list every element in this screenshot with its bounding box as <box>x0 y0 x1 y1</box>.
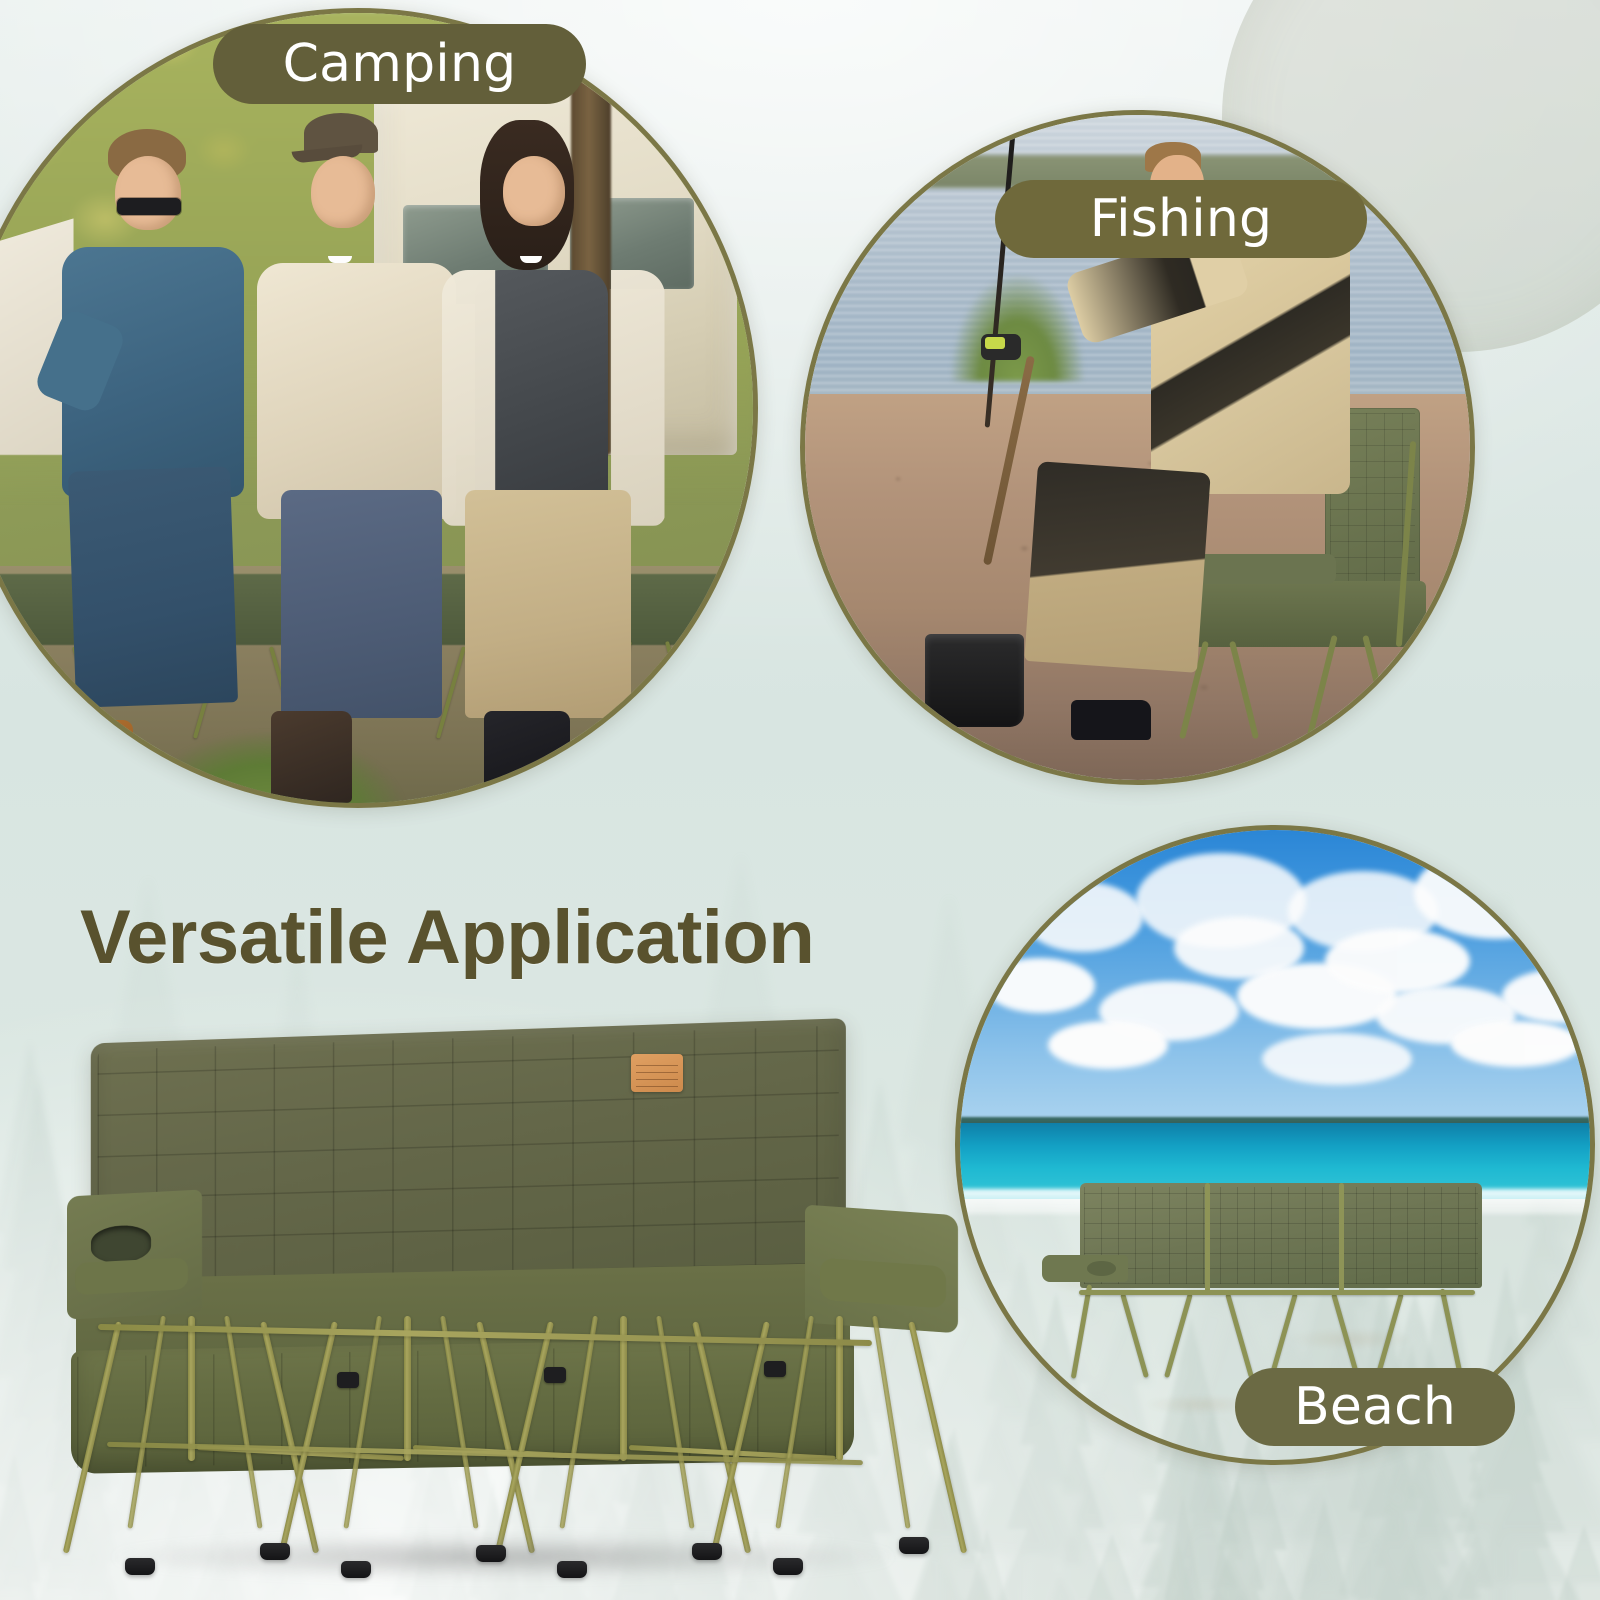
cloud <box>1174 917 1304 979</box>
cloud <box>1023 882 1143 952</box>
armrest-pad <box>75 1257 188 1295</box>
cup-holder <box>91 1224 150 1264</box>
leg-pair <box>465 490 631 718</box>
beach-photo <box>960 830 1590 1460</box>
armrest-pad <box>820 1257 945 1308</box>
product-armrest-right <box>805 1204 958 1332</box>
product-foot <box>773 1558 803 1575</box>
hero-product-image <box>62 1025 962 1585</box>
face <box>503 156 565 226</box>
product-foot <box>692 1543 722 1560</box>
cloud <box>1325 929 1470 993</box>
page-title: Versatile Application <box>80 894 814 981</box>
brand-logo-patch <box>631 1054 683 1092</box>
sunglasses-icon <box>117 198 181 215</box>
boot-left <box>57 720 133 803</box>
label-pill-fishing[interactable]: Fishing <box>995 180 1367 258</box>
boot-left <box>271 711 352 803</box>
bench-armrest <box>1042 1255 1128 1281</box>
face <box>311 156 375 228</box>
product-foot <box>476 1545 506 1562</box>
person-camper-3 <box>437 92 674 803</box>
poster-canvas: Camping Fishing Beach Versatile Applicat… <box>0 0 1600 1600</box>
product-armrest-left <box>67 1189 202 1319</box>
baseball-cap <box>304 113 378 153</box>
product-foot <box>341 1561 371 1578</box>
cloud <box>985 958 1095 1013</box>
legs <box>1024 462 1210 673</box>
leg-pair <box>68 467 238 709</box>
label-pill-camping[interactable]: Camping <box>213 24 586 104</box>
bench-backrest <box>1080 1183 1482 1288</box>
cloud <box>1451 1021 1581 1067</box>
fishing-reel <box>981 334 1021 360</box>
cream-jacket <box>257 263 456 519</box>
cloud <box>1048 1021 1168 1069</box>
bucket <box>925 634 1025 727</box>
beach-bench <box>1042 1183 1521 1385</box>
product-foot <box>899 1537 929 1554</box>
label-pill-beach[interactable]: Beach <box>1235 1368 1515 1446</box>
camping-photo <box>0 13 753 803</box>
scene-circle-camping[interactable] <box>0 8 758 808</box>
boot <box>1071 700 1151 740</box>
leg-pair <box>281 490 442 718</box>
clouds <box>960 830 1590 1120</box>
boot-left <box>484 711 569 803</box>
smile <box>520 256 542 263</box>
reeds <box>951 275 1084 381</box>
product-foot <box>260 1543 290 1560</box>
face <box>115 156 181 230</box>
smile <box>328 256 352 263</box>
cloud <box>1262 1033 1412 1085</box>
product-foot <box>557 1561 587 1578</box>
product-foot <box>125 1558 155 1575</box>
